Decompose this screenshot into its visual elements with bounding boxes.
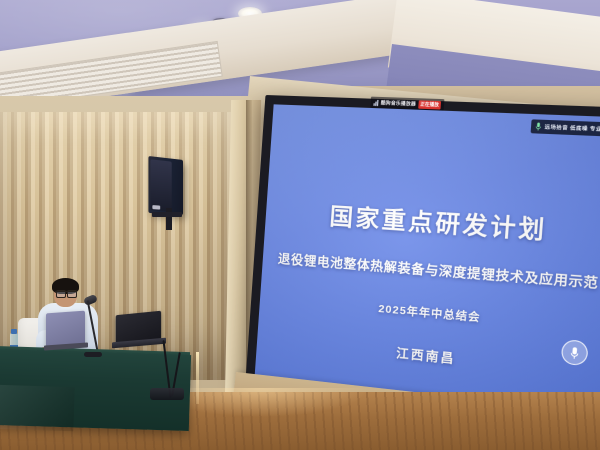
microphone-icon (535, 122, 541, 132)
tablecloth-fold (0, 385, 75, 431)
glasses-bridge (55, 291, 76, 297)
music-note-icon (373, 99, 379, 106)
desk-microphone-base (84, 352, 102, 357)
music-player-chip: 正在播放 (418, 100, 441, 109)
slide-subtitle: 退役锂电池整体热解装备与深度提锂技术及应用示范 (262, 247, 600, 294)
slide-title: 国家重点研发计划 (265, 193, 600, 251)
slide-meeting-name: 2025年年中总结会 (260, 291, 600, 337)
water-bottle-cap (11, 329, 17, 334)
laptop-silver[interactable] (46, 311, 85, 348)
slide-location: 江西南昌 (257, 330, 600, 382)
floor-light-strip (196, 352, 199, 404)
audio-system-label: 远场拾音 低底噪 专业会议网 (544, 123, 600, 134)
speaker-mount-bracket (152, 212, 182, 217)
floor-equipment (150, 388, 184, 400)
conference-room-photo: 国家重点研发计划 退役锂电池整体热解装备与深度提锂技术及应用示范 2025年年中… (0, 0, 600, 450)
music-player-title: 酷狗音乐播放器 (381, 100, 417, 107)
led-display-screen[interactable]: 国家重点研发计划 退役锂电池整体热解装备与深度提锂技术及应用示范 2025年年中… (254, 104, 600, 425)
speaker-grille (150, 159, 171, 211)
wall-speaker (148, 156, 183, 215)
speaker-badge (152, 205, 160, 210)
